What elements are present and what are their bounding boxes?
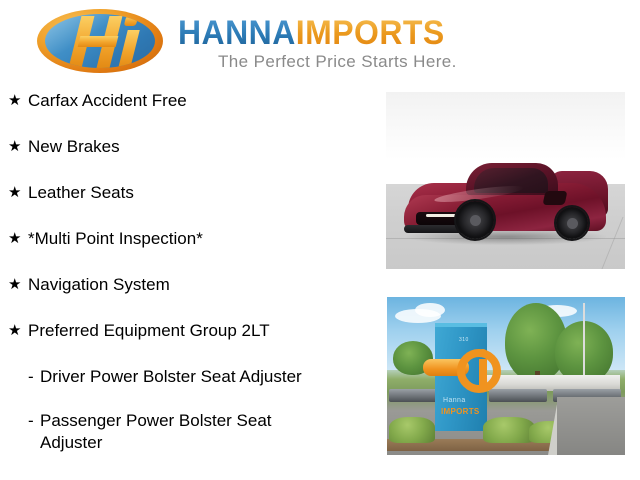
- wheel-hub: [567, 218, 578, 229]
- dash-bullet-icon: -: [28, 366, 40, 388]
- feature-label: Carfax Accident Free: [28, 90, 187, 112]
- star-bullet-icon: ★: [8, 228, 28, 250]
- star-bullet-icon: ★: [8, 274, 28, 296]
- brand-wordmark: HANNAIMPORTS: [178, 14, 445, 53]
- feature-label: Driver Power Bolster Seat Adjuster: [40, 366, 302, 388]
- sign-i-stem-icon: [479, 359, 487, 387]
- feature-label: Preferred Equipment Group 2LT: [28, 320, 270, 342]
- list-item: ★ New Brakes: [0, 136, 380, 158]
- list-item: ★ Leather Seats: [0, 182, 380, 204]
- sign-i-dot-icon: [479, 349, 487, 356]
- brand-name-secondary: IMPORTS: [296, 14, 445, 52]
- logo-inner-disc: [45, 14, 155, 68]
- feature-label: Passenger Power Bolster Seat Adjuster: [40, 410, 330, 454]
- brand-name-primary: HANNA: [178, 14, 296, 52]
- feature-label: Navigation System: [28, 274, 170, 296]
- list-item: ★ Navigation System: [0, 274, 380, 296]
- car-side-scoop: [543, 191, 568, 205]
- list-item: ★ Preferred Equipment Group 2LT: [0, 320, 380, 342]
- list-item: - Passenger Power Bolster Seat Adjuster: [0, 410, 380, 454]
- list-item: - Driver Power Bolster Seat Adjuster: [0, 366, 380, 388]
- star-bullet-icon: ★: [8, 320, 28, 342]
- list-item: ★ *Multi Point Inspection*: [0, 228, 380, 250]
- car-rear-wheel: [556, 207, 588, 239]
- star-bullet-icon: ★: [8, 182, 28, 204]
- road: [557, 397, 625, 455]
- vehicle-photo[interactable]: [386, 92, 625, 269]
- feature-label: Leather Seats: [28, 182, 134, 204]
- logo-h-crossbar: [78, 36, 119, 47]
- corvette-car-illustration: [404, 143, 610, 239]
- car-front-wheel: [456, 201, 494, 239]
- hedge: [483, 417, 535, 443]
- wheel-hub: [470, 215, 481, 226]
- star-bullet-icon: ★: [8, 90, 28, 112]
- star-bullet-icon: ★: [8, 136, 28, 158]
- list-item: ★ Carfax Accident Free: [0, 90, 380, 112]
- feature-label: New Brakes: [28, 136, 120, 158]
- cloud: [415, 303, 445, 317]
- sign-street-number: 310: [459, 337, 469, 343]
- hanna-imports-logo-icon: [37, 9, 163, 73]
- dash-bullet-icon: -: [28, 410, 40, 432]
- parked-cars-row: [489, 389, 547, 402]
- dealership-photo[interactable]: 310 Hanna IMPORTS: [387, 297, 625, 455]
- brand-header: HANNAIMPORTS The Perfect Price Starts He…: [0, 0, 640, 86]
- sign-brand-line-2: IMPORTS: [441, 407, 480, 416]
- vehicle-feature-list: ★ Carfax Accident Free ★ New Brakes ★ Le…: [0, 90, 380, 476]
- brand-tagline: The Perfect Price Starts Here.: [218, 52, 457, 72]
- car-headlight: [426, 214, 456, 217]
- sign-brand-line-1: Hanna: [443, 397, 466, 404]
- feature-label: *Multi Point Inspection*: [28, 228, 203, 250]
- logo-i-dot: [124, 16, 138, 26]
- hedge: [389, 417, 435, 443]
